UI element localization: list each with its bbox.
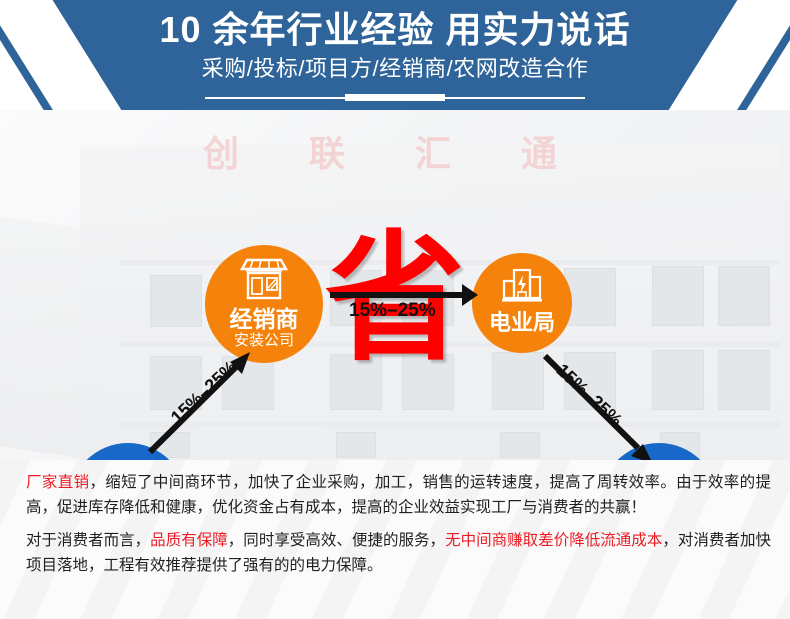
watermark-text: 创 联 汇 通 — [0, 125, 790, 177]
page-title: 10 余年行业经验 用实力说话 — [0, 8, 790, 52]
arrow-dealer-to-power — [330, 292, 465, 298]
paragraph-one: 厂家直销，缩短了中间商环节，加快了企业采购，加工，销售的运转速度，提高了周转效率… — [26, 470, 771, 520]
node-dealer[interactable]: 经销商 安装公司 — [205, 245, 323, 363]
highlight-no-middleman: 无中间商赚取差价降低流通成本 — [445, 532, 662, 549]
highlight-quality-guarantee: 品质有保障 — [150, 532, 228, 549]
node-power-bureau[interactable]: 电业局 — [472, 253, 572, 353]
node-power-bureau-label: 电业局 — [489, 310, 555, 335]
paragraph-two-part-b: ，同时享受高效、便捷的服务， — [228, 532, 445, 549]
paragraph-two-part-a: 对于消费者而言， — [26, 532, 150, 549]
divider-center-block — [345, 94, 445, 101]
label-dealer-to-power-pct: 15%–25% — [349, 300, 436, 322]
diagram-stage: 创 联 汇 通 省 经销商 安装公司 — [0, 110, 790, 460]
highlight-factory-direct: 厂家直销 — [26, 474, 89, 491]
arrow-dealer-to-power-head — [462, 284, 478, 306]
paragraph-one-body: ，缩短了中间商环节，加快了企业采购，加工，销售的运转速度，提高了周转效率。由于效… — [26, 474, 771, 516]
shop-icon — [205, 257, 323, 306]
node-dealer-sublabel: 安装公司 — [234, 332, 294, 349]
paragraph-two: 对于消费者而言，品质有保障，同时享受高效、便捷的服务，无中间商赚取差价降低流通成… — [26, 528, 771, 578]
footer-description: 厂家直销，缩短了中间商环节，加快了企业采购，加工，销售的运转速度，提高了周转效率… — [0, 460, 790, 619]
page-subtitle: 采购/投标/项目方/经销商/农网改造合作 — [0, 55, 790, 83]
power-plant-icon — [472, 267, 572, 310]
node-dealer-label: 经销商 — [230, 306, 299, 332]
promo-banner: 10 余年行业经验 用实力说话 采购/投标/项目方/经销商/农网改造合作 — [0, 0, 790, 619]
header-divider — [0, 94, 790, 102]
header-banner: 10 余年行业经验 用实力说话 采购/投标/项目方/经销商/农网改造合作 — [0, 0, 790, 110]
